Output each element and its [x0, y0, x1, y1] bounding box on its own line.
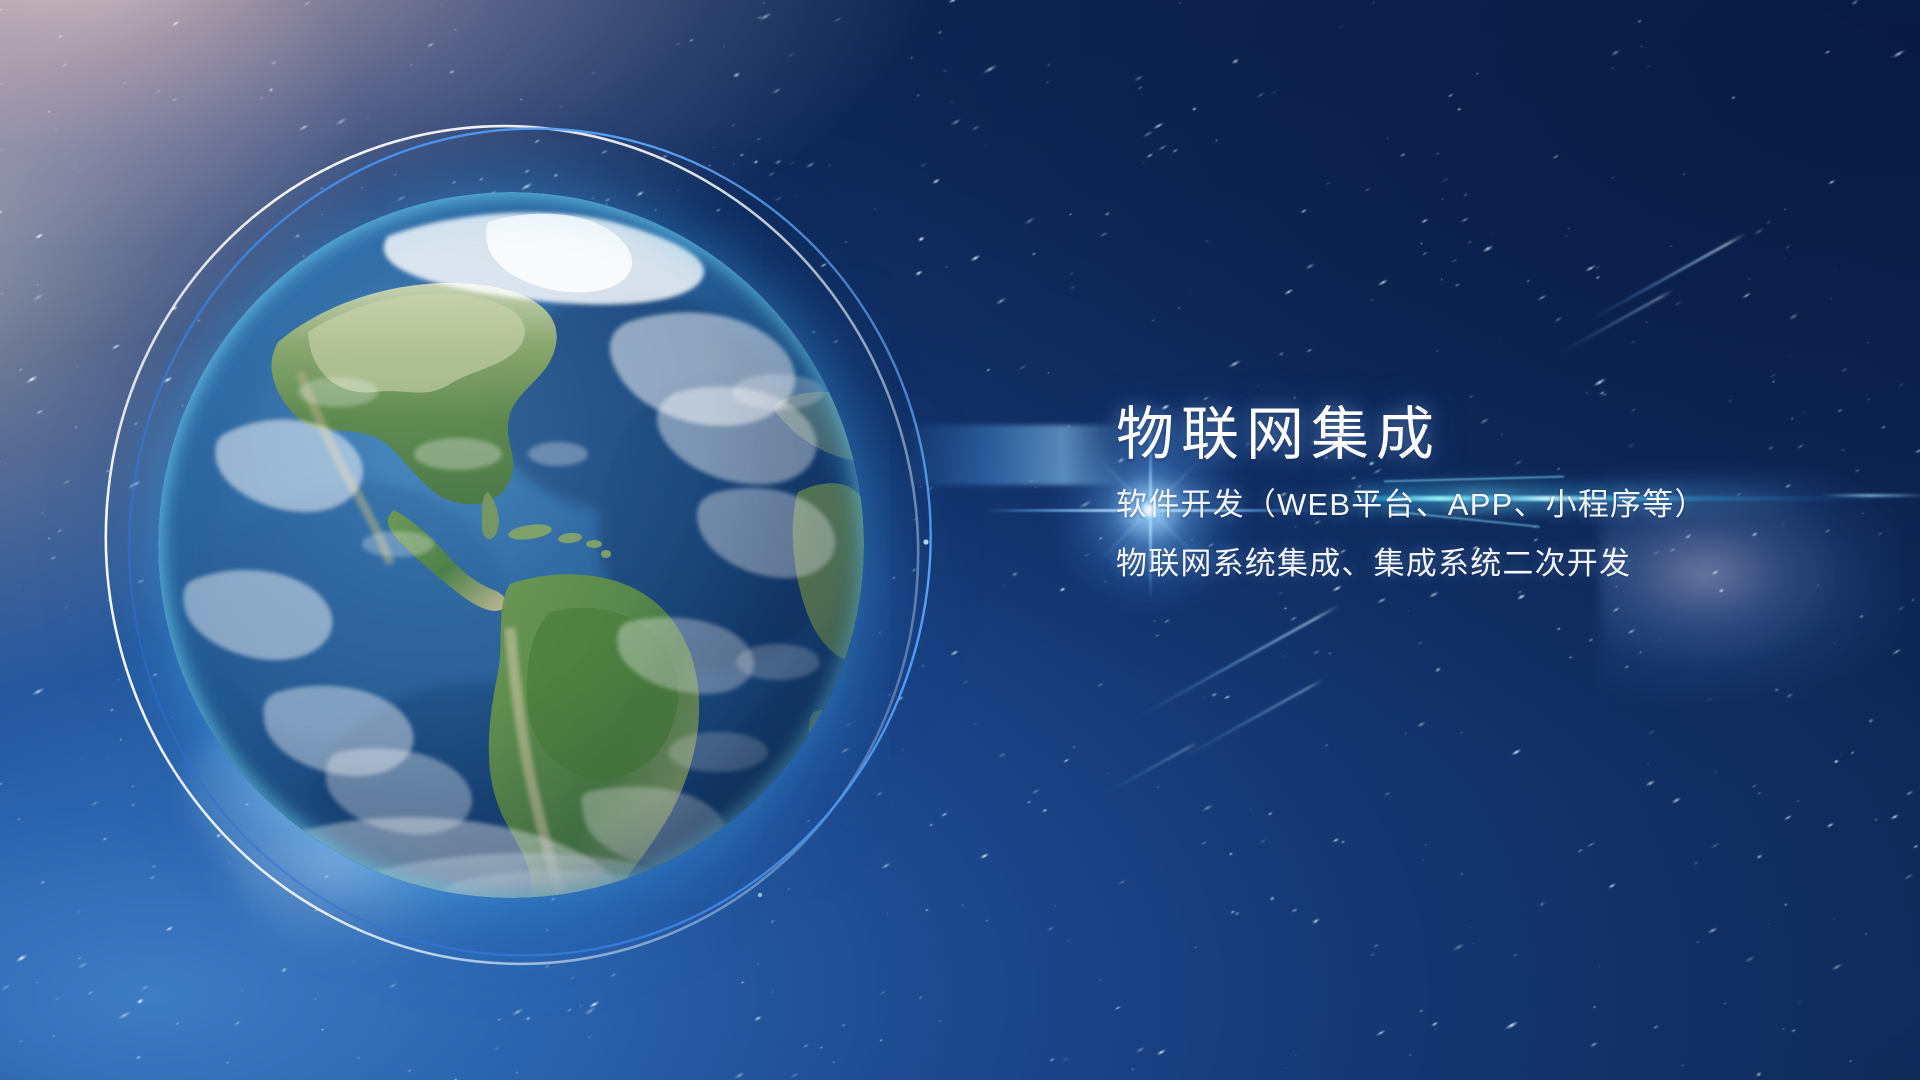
subtitle-line-1: 软件开发（WEB平台、APP、小程序等） — [1116, 489, 1836, 520]
hero-banner: 物联网集成 软件开发（WEB平台、APP、小程序等） 物联网系统集成、集成系统二… — [0, 0, 1920, 1080]
meteor-streak — [1179, 678, 1324, 760]
meteor-streak — [1591, 233, 1745, 320]
page-title: 物联网集成 — [1116, 404, 1836, 467]
orbit-rings — [60, 90, 1000, 1000]
hero-text-block: 物联网集成 软件开发（WEB平台、APP、小程序等） 物联网系统集成、集成系统二… — [1116, 404, 1836, 579]
subtitle-line-2: 物联网系统集成、集成系统二次开发 — [1116, 548, 1836, 579]
hero-subtitle: 软件开发（WEB平台、APP、小程序等） 物联网系统集成、集成系统二次开发 — [1116, 489, 1836, 579]
meteor-streak — [1559, 289, 1674, 354]
meteor-streak — [1109, 742, 1198, 793]
meteor-streak — [1137, 605, 1339, 719]
